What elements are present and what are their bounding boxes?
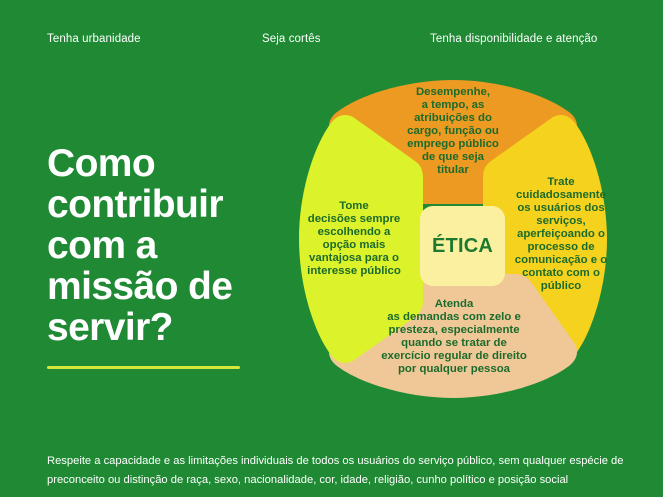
ethics-flower-diagram: Desempenhe, a tempo, as atribuições do c…	[283, 64, 623, 414]
top-label-cortesia: Seja cortês	[262, 33, 321, 45]
footer-note: Respeite a capacidade e as limitações in…	[47, 452, 625, 490]
diagram-core: ÉTICA	[420, 206, 505, 286]
top-label-row: Tenha urbanidade Seja cortês Tenha dispo…	[0, 33, 663, 53]
page-title: Como contribuir com a missão de servir?	[47, 143, 297, 348]
top-label-urbanidade: Tenha urbanidade	[47, 33, 141, 45]
headline-block: Como contribuir com a missão de servir?	[47, 143, 297, 369]
top-label-disponibilidade: Tenha disponibilidade e atenção	[430, 33, 597, 45]
headline-divider	[47, 366, 240, 369]
poster-canvas: Tenha urbanidade Seja cortês Tenha dispo…	[0, 0, 663, 497]
diagram-core-label: ÉTICA	[432, 235, 493, 258]
